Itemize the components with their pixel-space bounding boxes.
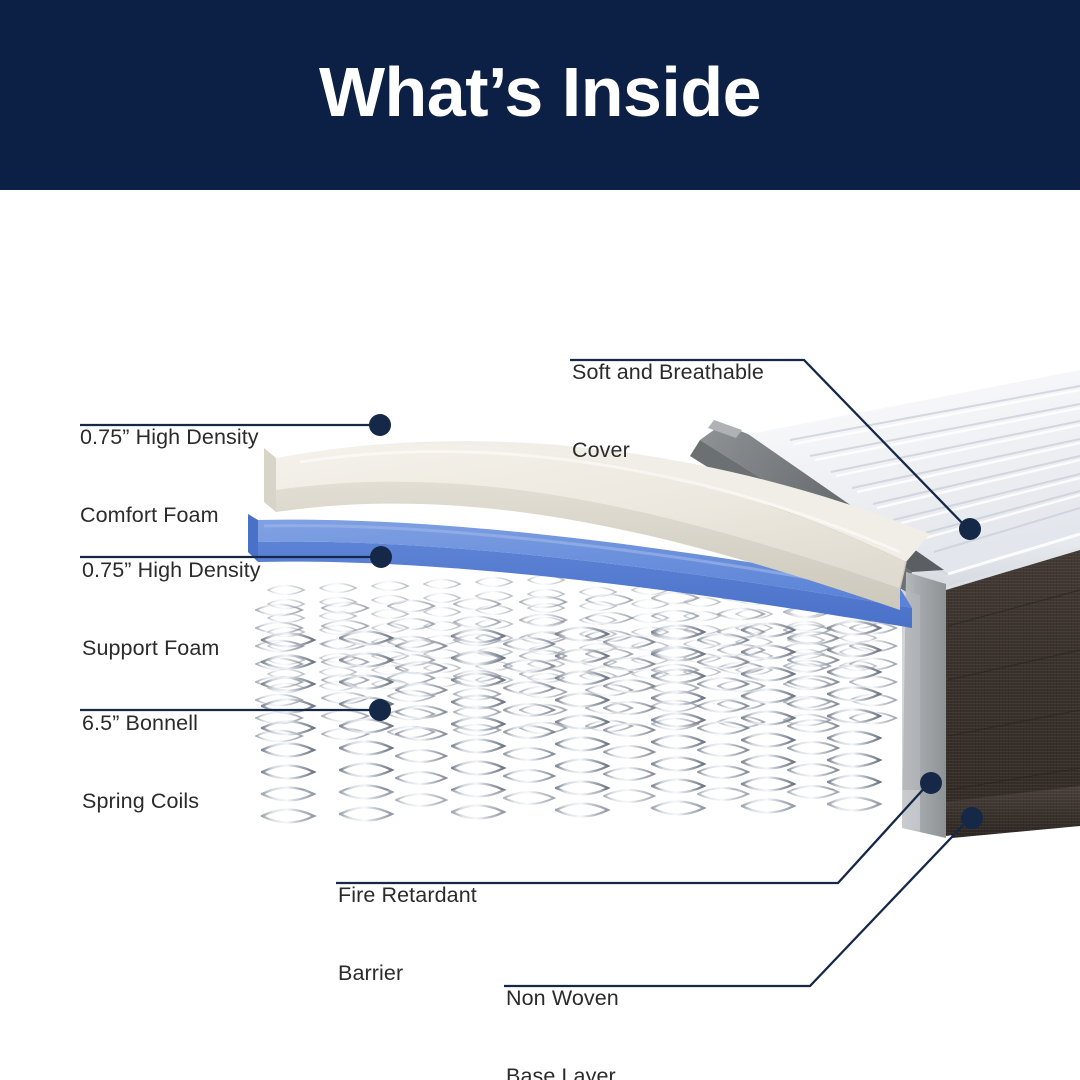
callout-bonnell-coils-line1: 6.5” Bonnell [82, 710, 199, 736]
callout-comfort-foam-line1: 0.75” High Density [80, 424, 259, 450]
callout-non-woven-base: Non Woven Base Layer [506, 933, 619, 1080]
header-banner: What’s Inside [0, 0, 1080, 190]
callout-breathable-cover-line1: Soft and Breathable [572, 359, 764, 385]
callout-support-foam-line1: 0.75” High Density [82, 557, 261, 583]
dot-non-woven-base [961, 807, 983, 829]
callout-breathable-cover: Soft and Breathable Cover [572, 307, 764, 515]
callout-fire-retardant-barrier: Fire Retardant Barrier [338, 830, 477, 1038]
dot-comfort-foam [369, 414, 391, 436]
whats-inside-infographic: What’s Inside [0, 0, 1080, 1080]
callout-non-woven-base-line2: Base Layer [506, 1063, 619, 1080]
dot-support-foam [370, 546, 392, 568]
dot-breathable-cover [959, 518, 981, 540]
dot-bonnell-coils [369, 699, 391, 721]
dot-fire-retardant [920, 772, 942, 794]
callout-fire-retardant-line1: Fire Retardant [338, 882, 477, 908]
callout-fire-retardant-line2: Barrier [338, 960, 477, 986]
callout-bonnell-coils: 6.5” Bonnell Spring Coils [82, 658, 199, 866]
callout-breathable-cover-line2: Cover [572, 437, 764, 463]
page-title: What’s Inside [319, 57, 761, 133]
callout-bonnell-coils-line2: Spring Coils [82, 788, 199, 814]
callout-non-woven-base-line1: Non Woven [506, 985, 619, 1011]
